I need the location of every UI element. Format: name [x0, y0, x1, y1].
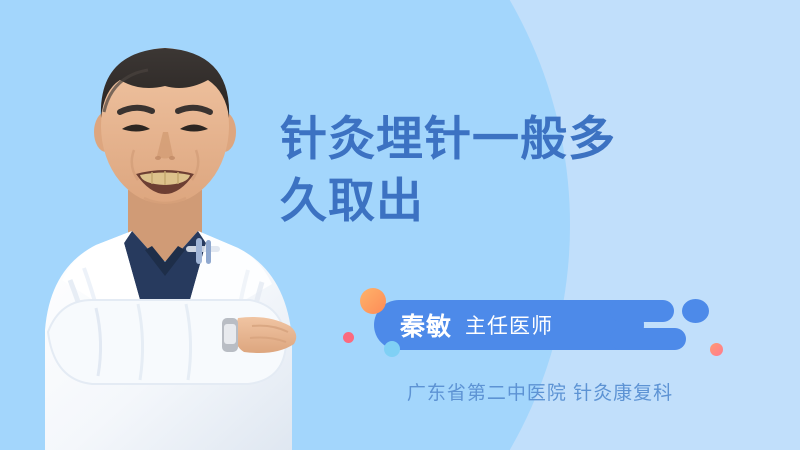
doctor-name: 秦敏: [400, 307, 452, 343]
pink-dot-decoration: [343, 332, 354, 343]
doctor-title: 主任医师: [465, 310, 553, 340]
badge-pill-dot: [682, 299, 709, 323]
hospital-department-label: 广东省第二中医院 针灸康复科: [340, 378, 740, 405]
doctor-name-badge: 秦敏 主任医师: [340, 286, 740, 366]
page-title: 针灸埋针一般多 久取出: [280, 108, 710, 232]
badge-text-group: 秦敏 主任医师: [374, 300, 644, 350]
medical-info-card: 针灸埋针一般多 久取出 秦敏 主任医师 广东省第二中医院 针灸康复科: [0, 0, 800, 450]
coral-dot-decoration: [710, 343, 723, 356]
